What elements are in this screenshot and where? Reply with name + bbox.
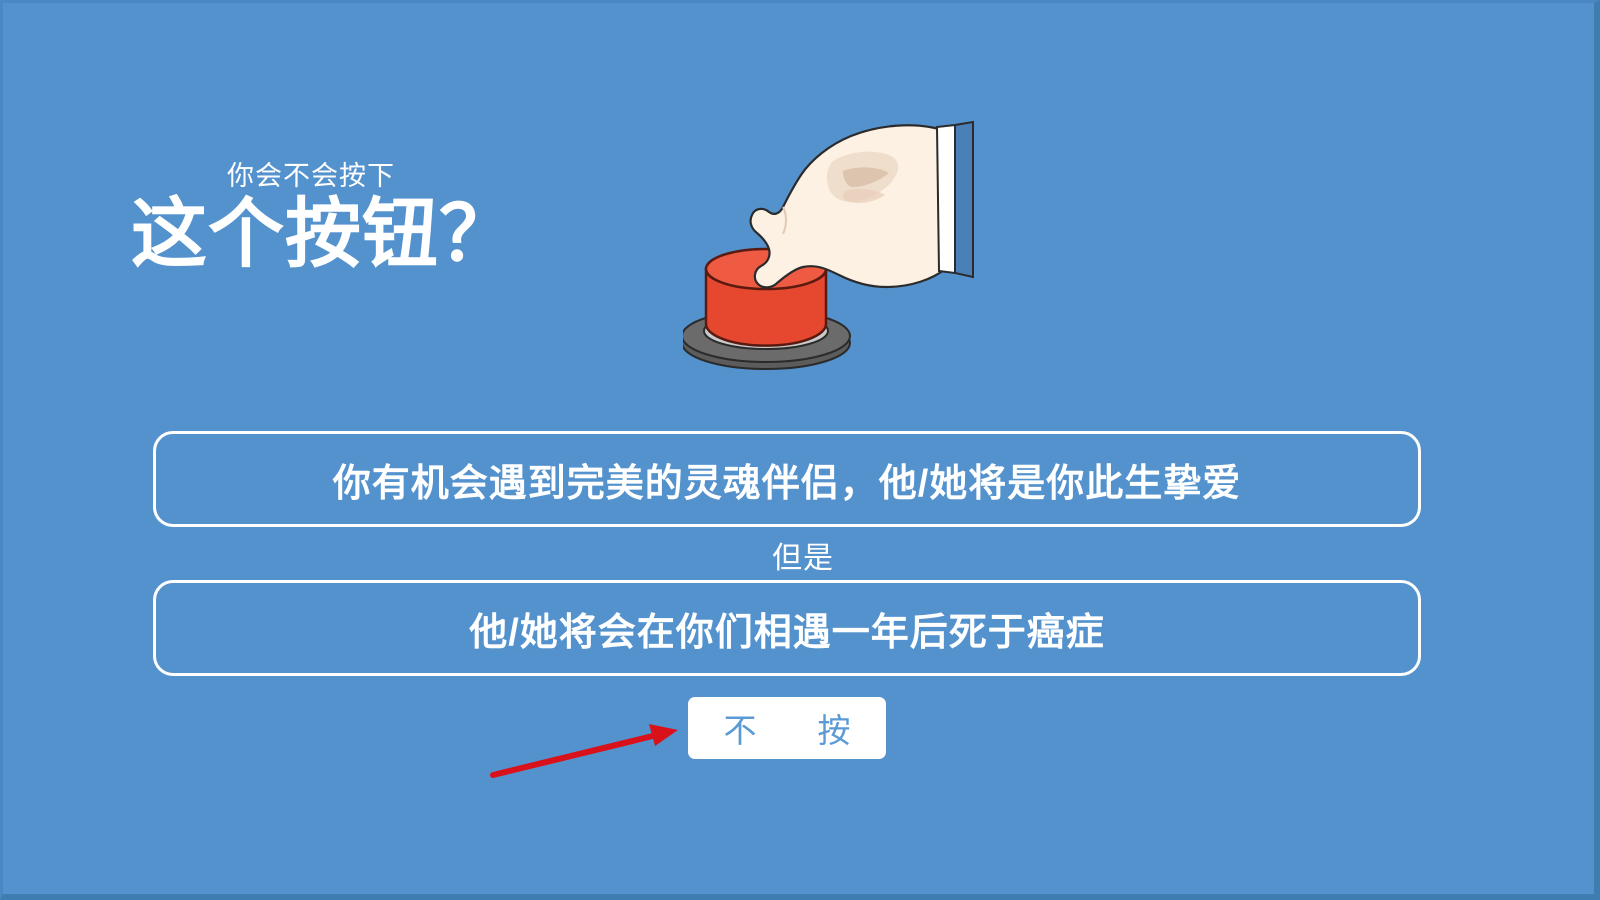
reward-option-text: 你有机会遇到完美的灵魂伴侣，他/她将是你此生挚爱: [333, 452, 1242, 507]
page-title: 这个按钮？: [131, 194, 731, 276]
cost-option-box[interactable]: 他/她将会在你们相遇一年后死于癌症: [153, 580, 1421, 676]
do-not-press-button[interactable]: 不 按: [688, 697, 886, 759]
shirt-cuff-icon: [937, 122, 973, 277]
page-subtitle: 你会不会按下: [227, 163, 731, 190]
pointing-hand-icon: [751, 125, 945, 287]
cost-option-text: 他/她将会在你们相遇一年后死于癌症: [469, 601, 1105, 656]
app-canvas: 你会不会按下 这个按钮？: [0, 0, 1600, 900]
red-pointer-arrow: [473, 703, 703, 793]
reward-option-box[interactable]: 你有机会遇到完美的灵魂伴侣，他/她将是你此生挚爱: [153, 431, 1421, 527]
page-title-block: 你会不会按下 这个按钮？: [131, 163, 731, 276]
hand-pressing-red-button-illustration: [683, 103, 983, 388]
conjunction-label: 但是: [3, 533, 1600, 577]
